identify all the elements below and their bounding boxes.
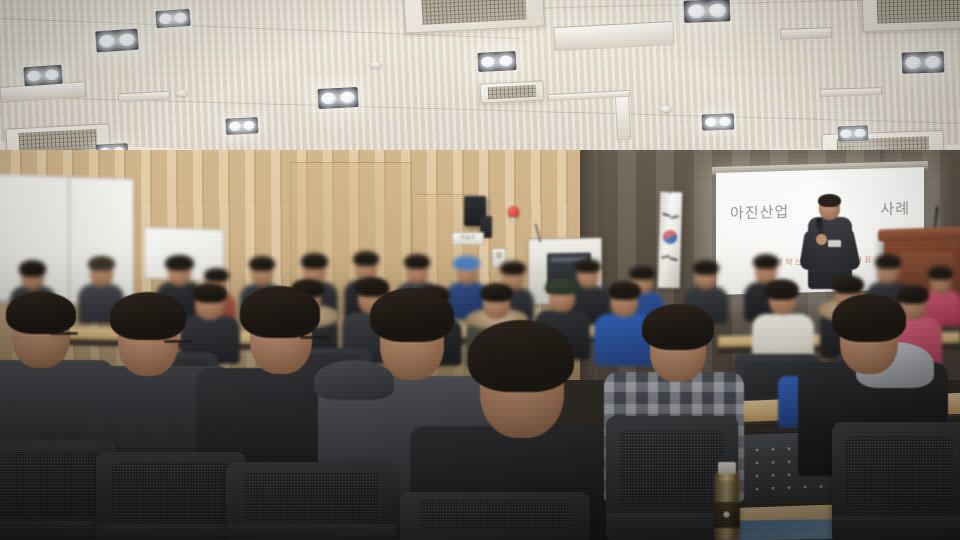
ac-cassette [480,80,545,103]
ceiling-vent [780,27,832,40]
chair[interactable] [832,422,960,540]
ceiling-downlight [902,51,945,73]
bottle-cap [718,462,736,474]
attendee-hair [928,266,953,280]
ceiling-downlight [702,113,735,130]
attendee-hair [88,256,115,271]
attendee-hair [19,260,46,277]
smoke-detector [660,106,672,112]
ceiling-downlight [684,0,731,23]
attendee-hair [575,259,601,273]
attendee-hair [629,266,655,280]
smoke-detector [176,90,188,96]
chair[interactable] [400,492,590,540]
ceiling-vent [615,94,631,141]
podium-top [878,226,960,241]
attendee-hair [301,253,328,269]
eyeglasses [50,332,78,335]
coat-collar [314,360,394,400]
attendee-cap [453,256,480,270]
attendee-hair [500,261,526,275]
ceiling-downlight [226,117,259,135]
attendee-hair [468,320,574,392]
chair[interactable] [226,462,396,540]
attendee-hair [6,292,76,334]
attendee-cap [545,279,578,295]
attendee-hair [608,281,641,300]
attendee-hair [693,260,719,275]
presenter-hair [818,194,841,207]
smoke-detector [370,62,382,68]
chair-arm [226,524,396,537]
attendee-hair [753,254,779,269]
attendee-hair [204,268,229,282]
bottle-label [714,502,740,528]
chair[interactable] [96,452,246,540]
attendee-hair [875,254,901,269]
ceiling-downlight [155,9,190,28]
speaker-grille [467,199,483,217]
attendee-hair [832,275,864,294]
ceiling-downlight [318,87,359,109]
attendee-hair [249,256,275,271]
ceiling-downlight [23,65,62,87]
attendee-hair [765,279,799,300]
chair-arm [832,516,960,535]
beverage-bottle[interactable] [714,472,740,540]
presenter-badge [828,240,841,247]
attendee-hair [240,286,320,338]
slide-title-right: 사례 [880,197,910,219]
seminar-room-photograph: 비상구 아진산업 사례 경영혁신 성공 사례 발표 [0,0,960,540]
attendee-hair [404,254,430,269]
ac-cassette [861,0,960,32]
attendee-hair [353,251,379,266]
slide-title-left: 아진산업 [730,201,789,224]
attendee-hair [110,292,186,340]
fire-alarm-bell-icon [508,206,519,218]
ceiling-downlight [478,51,517,72]
eyeglasses [164,340,192,343]
attendee-hair [832,294,906,342]
presenter-hand [816,234,827,245]
exit-sign: 비상구 [452,232,484,245]
ceiling-downlight [95,29,138,53]
chair-arm [96,524,246,539]
wall-speaker [464,196,486,226]
whiteboard-seam [68,177,70,303]
attendee-hair [642,304,714,350]
attendee-cap [165,255,194,271]
ceiling-downlight [838,125,869,141]
